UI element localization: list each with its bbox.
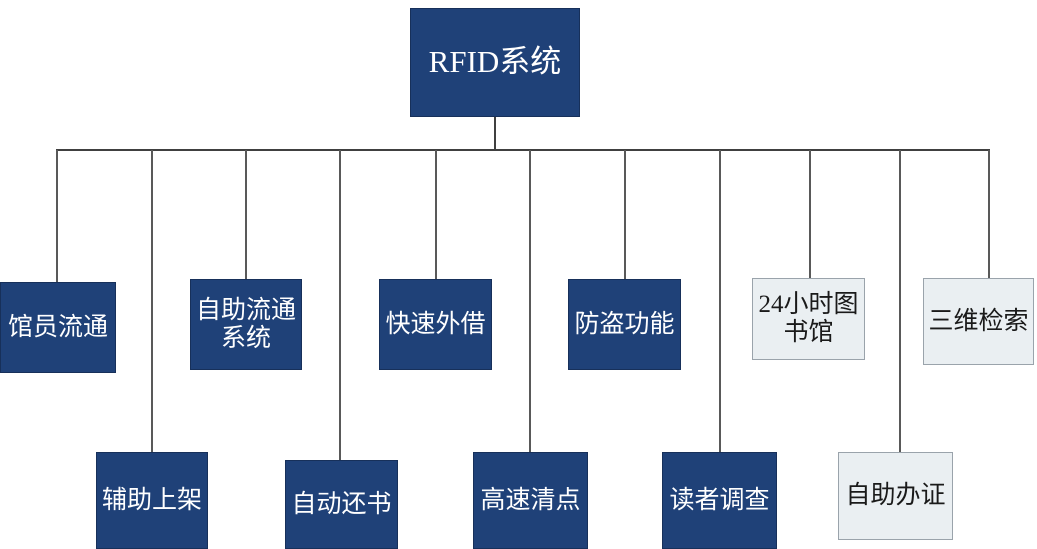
- node-kuaisuwaijie[interactable]: 快速外借: [379, 279, 492, 370]
- org-chart-diagram: RFID系统 馆员流通 自助流通 系统 快速外借 防盗功能 24小时图 书馆 三…: [0, 0, 1037, 549]
- connector-drop-fangdaogongneng: [624, 150, 626, 279]
- connector-drop-kuaisuwaijie: [435, 150, 437, 279]
- node-zidonghuanshu[interactable]: 自动还书: [285, 460, 398, 549]
- node-zidonghuanshu-label: 自动还书: [289, 491, 393, 519]
- node-kuaisuwaijie-label: 快速外借: [383, 311, 487, 339]
- connector-root-stem: [494, 117, 496, 151]
- connector-horizontal-bus: [56, 149, 990, 151]
- node-gaosuqingdian-label: 高速清点: [478, 487, 582, 515]
- connector-drop-24xiaoshitushuguan: [809, 150, 811, 278]
- node-fuzhushangjia-label: 辅助上架: [100, 487, 204, 515]
- node-duzhediaocha-label: 读者调查: [667, 487, 771, 515]
- node-24xiaoshitushuguan-label: 24小时图 书馆: [756, 291, 860, 347]
- node-fangdaogongneng-label: 防盗功能: [572, 311, 676, 339]
- node-root[interactable]: RFID系统: [410, 8, 580, 117]
- connector-drop-zizhubanzheng: [899, 150, 901, 452]
- node-zizhuliutongxitong-label: 自助流通 系统: [194, 297, 298, 353]
- node-guanyuanliutong[interactable]: 馆员流通: [0, 282, 116, 373]
- node-24xiaoshitushuguan[interactable]: 24小时图 书馆: [752, 278, 865, 360]
- node-root-label: RFID系统: [427, 45, 564, 80]
- connector-drop-duzhediaocha: [719, 150, 721, 452]
- node-zizhuliutongxitong[interactable]: 自助流通 系统: [190, 279, 302, 370]
- connector-drop-gaosuqingdian: [529, 150, 531, 452]
- node-gaosuqingdian[interactable]: 高速清点: [473, 452, 588, 549]
- connector-drop-guanyuanliutong: [56, 150, 58, 282]
- connector-drop-zizhuliutongxitong: [245, 150, 247, 279]
- node-zizhubanzheng-label: 自助办证: [843, 482, 947, 510]
- connector-drop-fuzhushangjia: [151, 150, 153, 452]
- node-sanweijiansuo-label: 三维检索: [926, 308, 1030, 336]
- connector-drop-sanweijiansuo: [988, 150, 990, 278]
- node-fuzhushangjia[interactable]: 辅助上架: [96, 452, 208, 549]
- node-guanyuanliutong-label: 馆员流通: [6, 314, 110, 342]
- node-sanweijiansuo[interactable]: 三维检索: [923, 278, 1034, 365]
- node-fangdaogongneng[interactable]: 防盗功能: [568, 279, 681, 370]
- node-zizhubanzheng[interactable]: 自助办证: [838, 452, 953, 540]
- connector-drop-zidonghuanshu: [339, 150, 341, 460]
- node-duzhediaocha[interactable]: 读者调查: [662, 452, 777, 549]
